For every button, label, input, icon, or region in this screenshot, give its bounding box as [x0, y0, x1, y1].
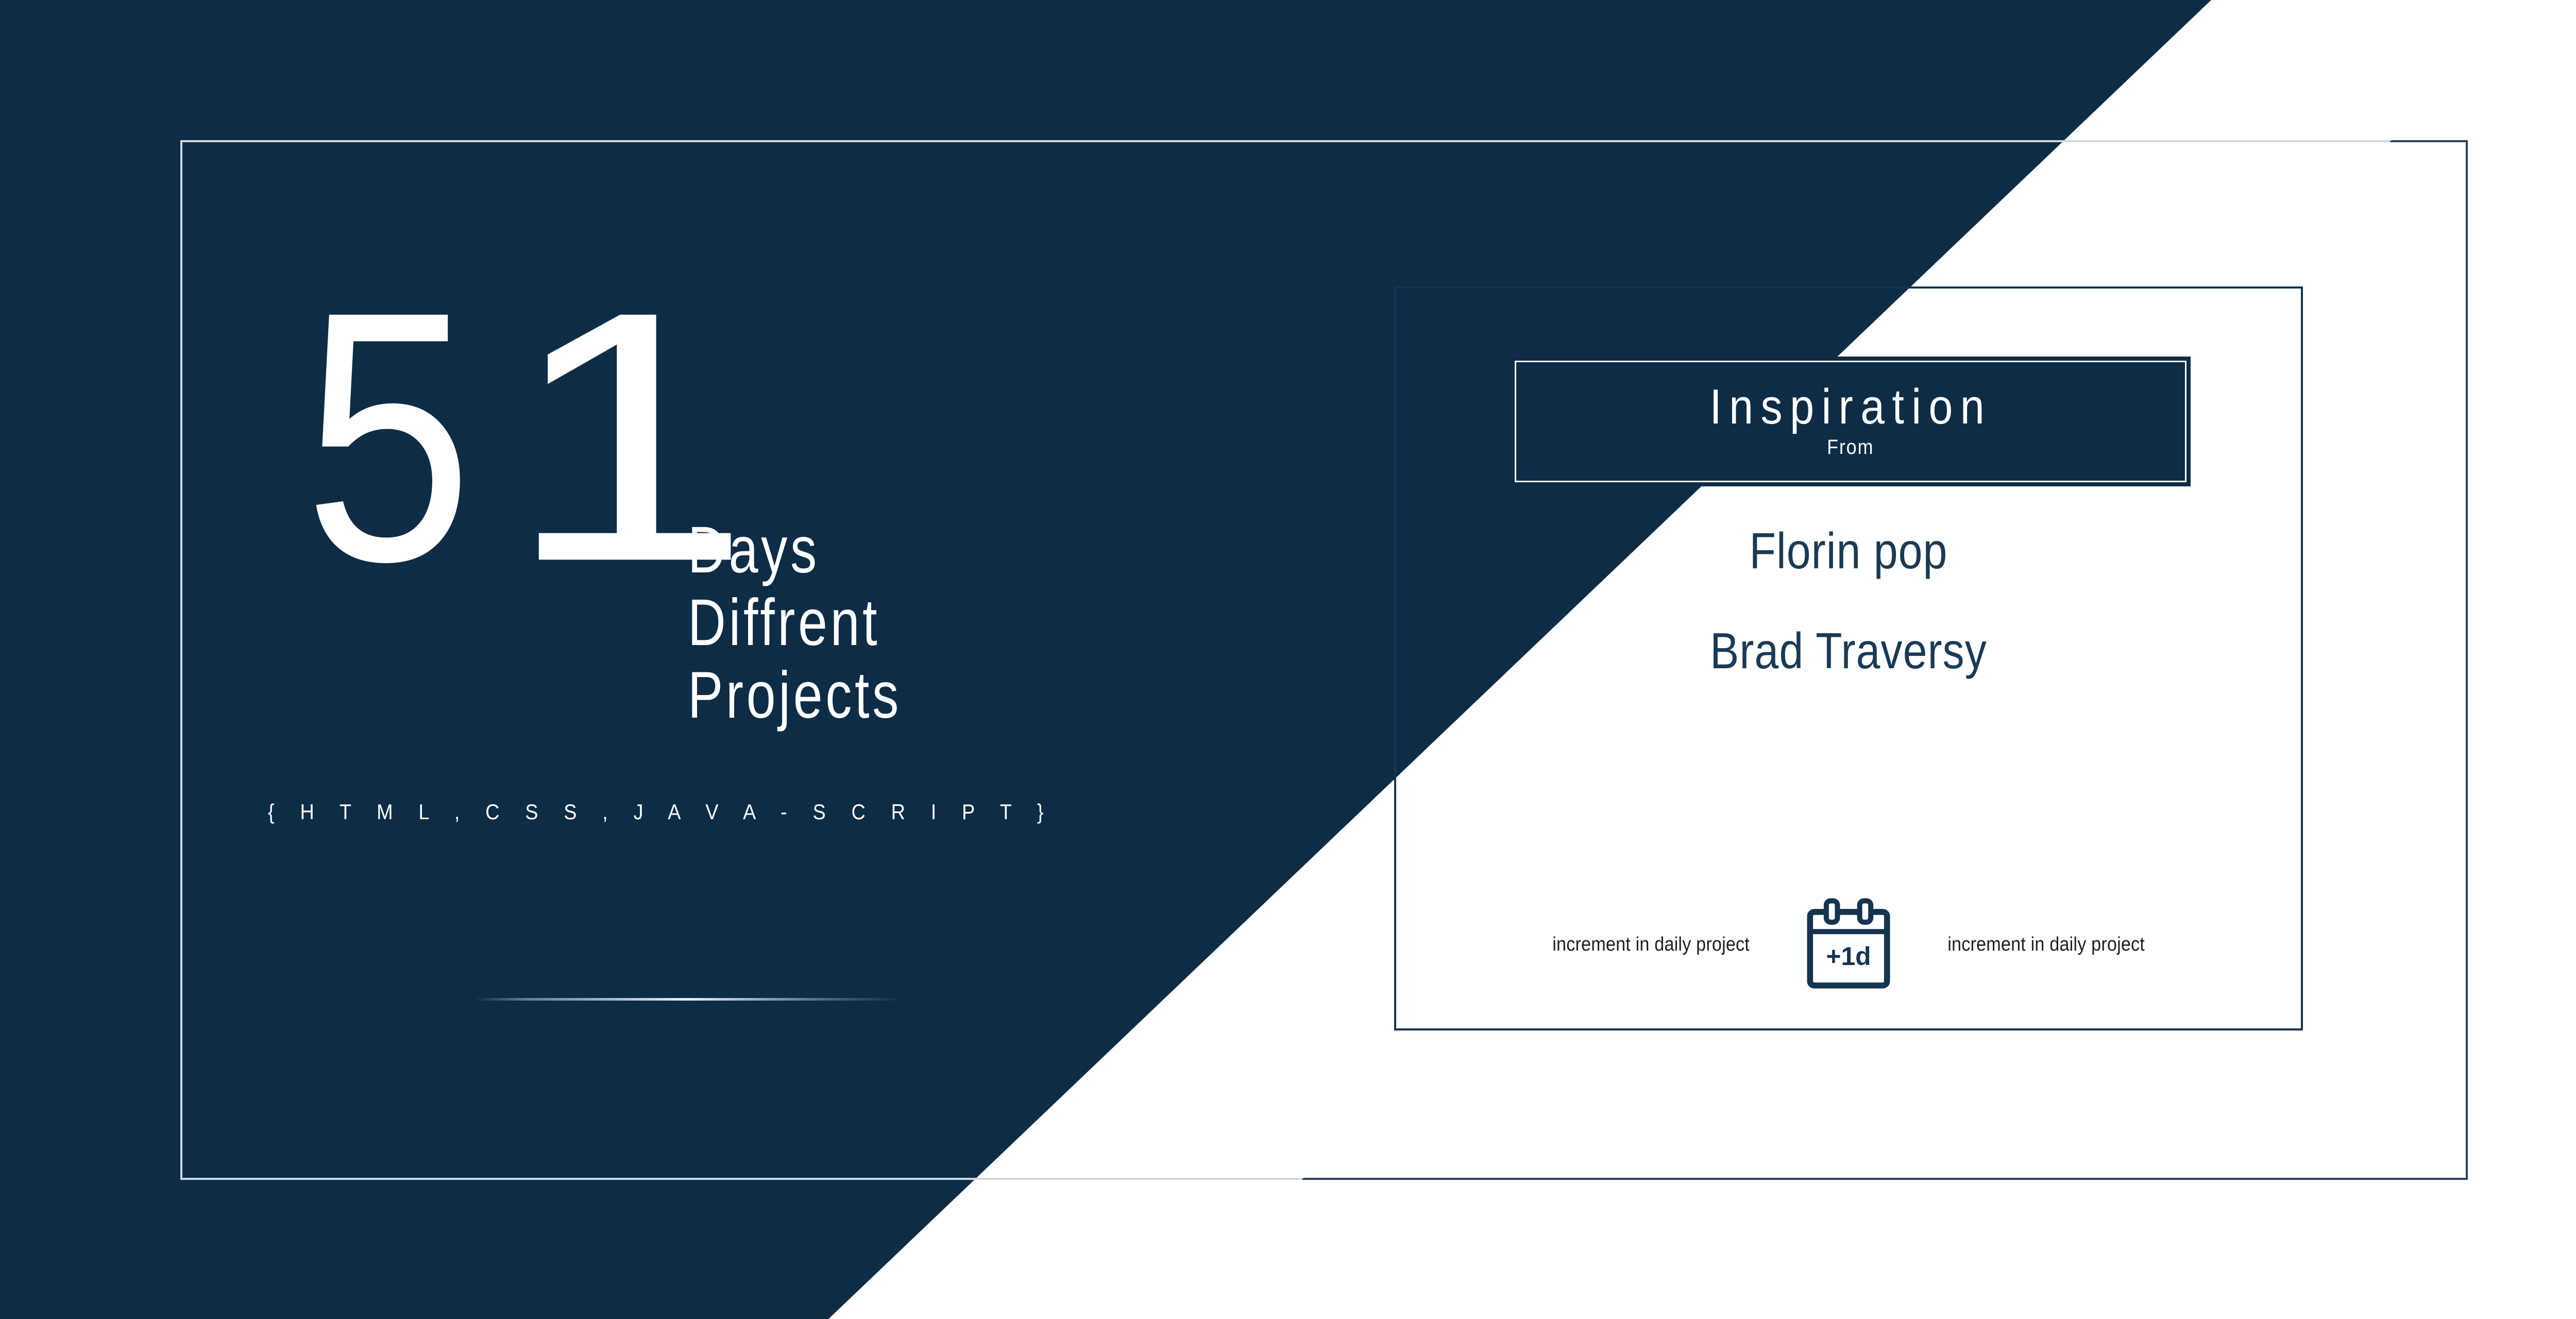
inspiration-header-box: Inspiration From — [1511, 357, 2191, 486]
word-line-diffrent: Diffrent — [688, 591, 902, 655]
calendar-plus-one-day-icon: +1d — [1806, 897, 1891, 992]
inspiration-name-1: Florin pop — [1460, 526, 2238, 576]
big-numeral-lockup: 5 1 Days Diffrent Projects — [304, 259, 974, 722]
footer-note-right: increment in daily project — [1947, 934, 2145, 956]
word-line-projects: Projects — [688, 664, 902, 728]
numeral-five: 5 — [304, 259, 467, 615]
inspiration-name-2: Brad Traversy — [1460, 625, 2238, 676]
word-stack: Days Diffrent Projects — [688, 519, 955, 728]
inspiration-subtitle: From — [1827, 437, 1874, 458]
inspiration-card: Inspiration From Florin pop Brad Travers… — [1394, 286, 2303, 1030]
inspiration-title: Inspiration — [1709, 382, 1992, 432]
card-footer-row: increment in daily project +1d increment… — [1396, 897, 2301, 992]
calendar-icon-label: +1d — [1826, 942, 1871, 971]
inspiration-names-list: Florin pop Brad Traversy — [1396, 526, 2301, 676]
left-title-block: 5 1 Days Diffrent Projects { H T M L , C… — [180, 140, 1211, 1180]
gradient-divider — [474, 998, 902, 1001]
tech-stack-label: { H T M L , C S S , J A V A - S C R I P … — [268, 800, 1054, 824]
poster-canvas: 5 1 Days Diffrent Projects { H T M L , C… — [0, 0, 2576, 1319]
word-line-days: Days — [688, 519, 902, 582]
footer-note-left: increment in daily project — [1552, 934, 1750, 956]
